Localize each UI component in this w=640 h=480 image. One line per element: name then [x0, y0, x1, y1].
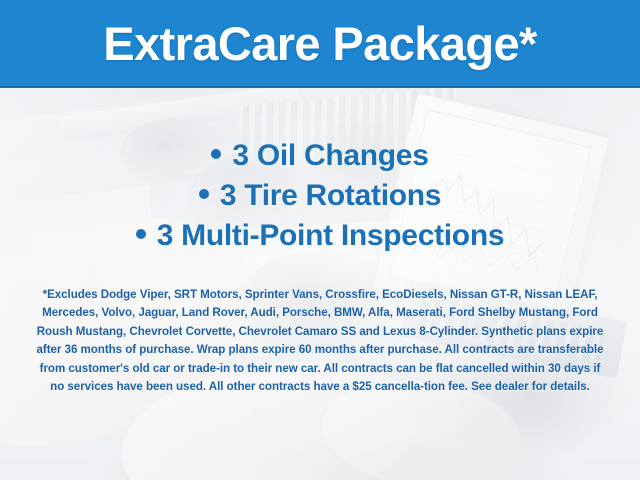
- bullet-point-icon: [211, 149, 221, 159]
- benefit-item: 3 Oil Changes: [0, 136, 640, 176]
- benefit-item-label: 3 Oil Changes: [232, 139, 428, 172]
- extracare-package-banner: ExtraCare Package* 3 Oil Changes 3 Tire …: [0, 0, 640, 480]
- bullet-point-icon: [136, 229, 146, 239]
- benefit-item: 3 Multi-Point Inspections: [0, 216, 640, 256]
- header-band: ExtraCare Package*: [0, 0, 640, 88]
- page-title: ExtraCare Package*: [103, 20, 536, 67]
- benefits-list: 3 Oil Changes 3 Tire Rotations 3 Multi-P…: [0, 136, 640, 256]
- bullet-point-icon: [199, 189, 209, 199]
- benefit-item-label: 3 Multi-Point Inspections: [157, 219, 505, 252]
- disclaimer-text: *Excludes Dodge Viper, SRT Motors, Sprin…: [34, 286, 606, 396]
- benefit-item: 3 Tire Rotations: [0, 176, 640, 216]
- benefit-item-label: 3 Tire Rotations: [220, 179, 441, 212]
